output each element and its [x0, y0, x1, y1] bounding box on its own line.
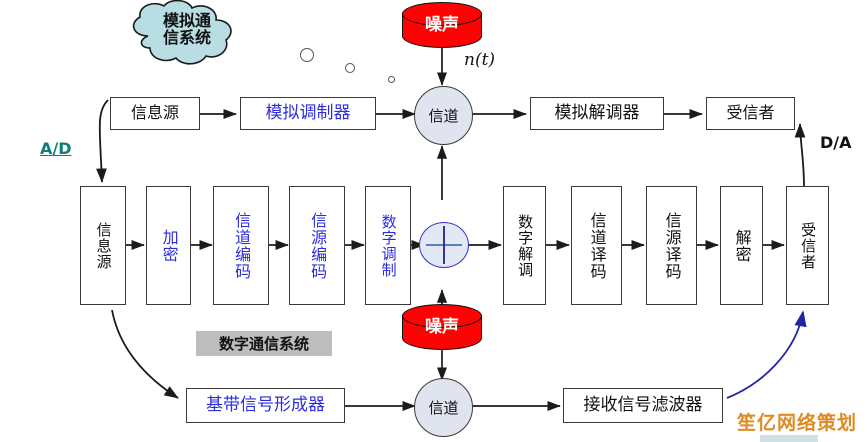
diagram-canvas: 模拟通 信系统 噪声 噪声 n(t) A/D D/A 信道 信道 信息源	[0, 0, 867, 442]
noise-signal-label: n(t)	[464, 50, 495, 70]
baseband-former[interactable]: 基带信号形成器	[186, 388, 345, 423]
thought-bubble-small	[388, 76, 395, 83]
analog-demodulator[interactable]: 模拟解调器	[530, 97, 664, 130]
source-digital[interactable]: 信息源	[80, 186, 126, 305]
noise-top-label: 噪声	[402, 10, 482, 35]
analog-demodulator-label: 模拟解调器	[555, 105, 640, 123]
source-encode-label: 信源编码	[309, 212, 325, 280]
cloud-label-line2: 信系统	[148, 30, 226, 47]
cloud-label: 模拟通 信系统	[148, 13, 226, 47]
thought-bubble-medium	[345, 63, 355, 73]
noise-top: 噪声	[402, 2, 482, 48]
channel-decode[interactable]: 信道译码	[571, 186, 622, 305]
receive-filter-label: 接收信号滤波器	[584, 397, 703, 415]
summing-junction[interactable]	[419, 222, 469, 268]
noise-bottom-label: 噪声	[402, 312, 482, 337]
digital-system-tag: 数字通信系统	[196, 331, 332, 356]
source-decode[interactable]: 信源译码	[646, 186, 697, 305]
watermark-bar	[760, 435, 818, 442]
channel-analog[interactable]: 信道	[414, 86, 473, 145]
source-encode[interactable]: 信源编码	[289, 186, 345, 305]
da-label: D/A	[820, 133, 852, 152]
channel-baseband[interactable]: 信道	[414, 378, 473, 437]
source-analog[interactable]: 信息源	[110, 97, 200, 130]
receiver-analog[interactable]: 受信者	[706, 97, 795, 130]
receiver-digital[interactable]: 受信者	[786, 186, 829, 305]
baseband-former-label: 基带信号形成器	[206, 397, 325, 415]
noise-bottom: 噪声	[402, 304, 482, 350]
source-digital-label: 信息源	[95, 222, 110, 270]
watermark: 笙亿网络策划	[737, 408, 857, 435]
digital-modulate-label: 数字调制	[380, 214, 395, 278]
encrypt[interactable]: 加密	[146, 186, 191, 305]
decrypt-label: 解密	[733, 229, 749, 263]
encrypt-label: 加密	[160, 229, 176, 263]
ad-label: A/D	[40, 139, 72, 158]
channel-baseband-label: 信道	[428, 397, 458, 418]
source-analog-label: 信息源	[131, 105, 179, 122]
digital-system-tag-label: 数字通信系统	[219, 333, 309, 354]
plus-icon	[420, 223, 468, 267]
thought-bubble-large	[300, 48, 314, 62]
receiver-analog-label: 受信者	[726, 105, 774, 122]
channel-encode-label: 信道编码	[233, 212, 249, 280]
receive-filter[interactable]: 接收信号滤波器	[563, 388, 723, 423]
digital-modulate[interactable]: 数字调制	[365, 186, 411, 305]
analog-modulator[interactable]: 模拟调制器	[240, 97, 376, 130]
digital-demodulate[interactable]: 数字解调	[503, 186, 546, 305]
digital-demodulate-label: 数字解调	[517, 214, 532, 278]
channel-encode[interactable]: 信道编码	[213, 186, 269, 305]
channel-decode-label: 信道译码	[588, 212, 604, 280]
source-decode-label: 信源译码	[663, 212, 679, 280]
receiver-digital-label: 受信者	[800, 222, 815, 270]
decrypt[interactable]: 解密	[720, 186, 763, 305]
analog-modulator-label: 模拟调制器	[266, 105, 351, 123]
channel-analog-label: 信道	[428, 105, 458, 126]
